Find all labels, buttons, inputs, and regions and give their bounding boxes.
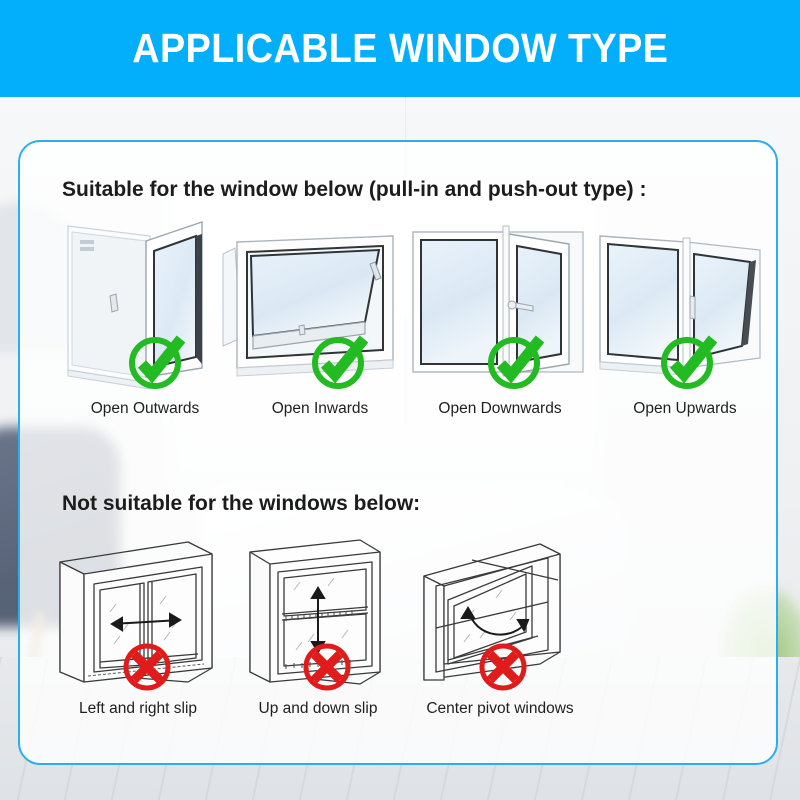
page-title: APPLICABLE WINDOW TYPE	[132, 25, 668, 72]
suitable-item-label: Open Downwards	[405, 400, 595, 418]
red-cross-badge	[120, 640, 174, 694]
green-check-badge	[126, 330, 188, 392]
suitable-item-open-inwards: Open Inwards	[225, 218, 415, 393]
infographic-page: APPLICABLE WINDOW TYPE Suitable for the …	[0, 0, 800, 800]
green-check-badge	[485, 330, 547, 392]
not-suitable-item-up-down-slip: Up and down slip	[228, 532, 408, 692]
not-suitable-item-label: Left and right slip	[48, 700, 228, 718]
not-suitable-window-row: Left and right slip	[20, 532, 776, 752]
not-suitable-item-label: Center pivot windows	[410, 700, 590, 718]
content-card: Suitable for the window below (pull-in a…	[18, 140, 778, 765]
suitable-item-label: Open Outwards	[50, 400, 240, 418]
header-banner: APPLICABLE WINDOW TYPE	[0, 0, 800, 97]
suitable-item-open-downwards: Open Downwards	[405, 218, 595, 393]
not-suitable-section-title: Not suitable for the windows below:	[62, 492, 420, 516]
red-cross-badge	[300, 640, 354, 694]
suitable-item-label: Open Inwards	[225, 400, 415, 418]
green-check-badge	[658, 330, 720, 392]
suitable-item-open-upwards: Open Upwards	[590, 218, 780, 393]
red-cross-badge	[476, 640, 530, 694]
not-suitable-item-center-pivot: Center pivot windows	[410, 532, 590, 692]
suitable-item-label: Open Upwards	[590, 400, 780, 418]
suitable-section-title: Suitable for the window below (pull-in a…	[62, 178, 646, 202]
not-suitable-item-label: Up and down slip	[228, 700, 408, 718]
not-suitable-item-left-right-slip: Left and right slip	[48, 532, 228, 692]
suitable-item-open-outwards: Open Outwards	[50, 218, 240, 393]
green-check-badge	[309, 330, 371, 392]
suitable-window-row: Open Outwards	[20, 218, 776, 448]
